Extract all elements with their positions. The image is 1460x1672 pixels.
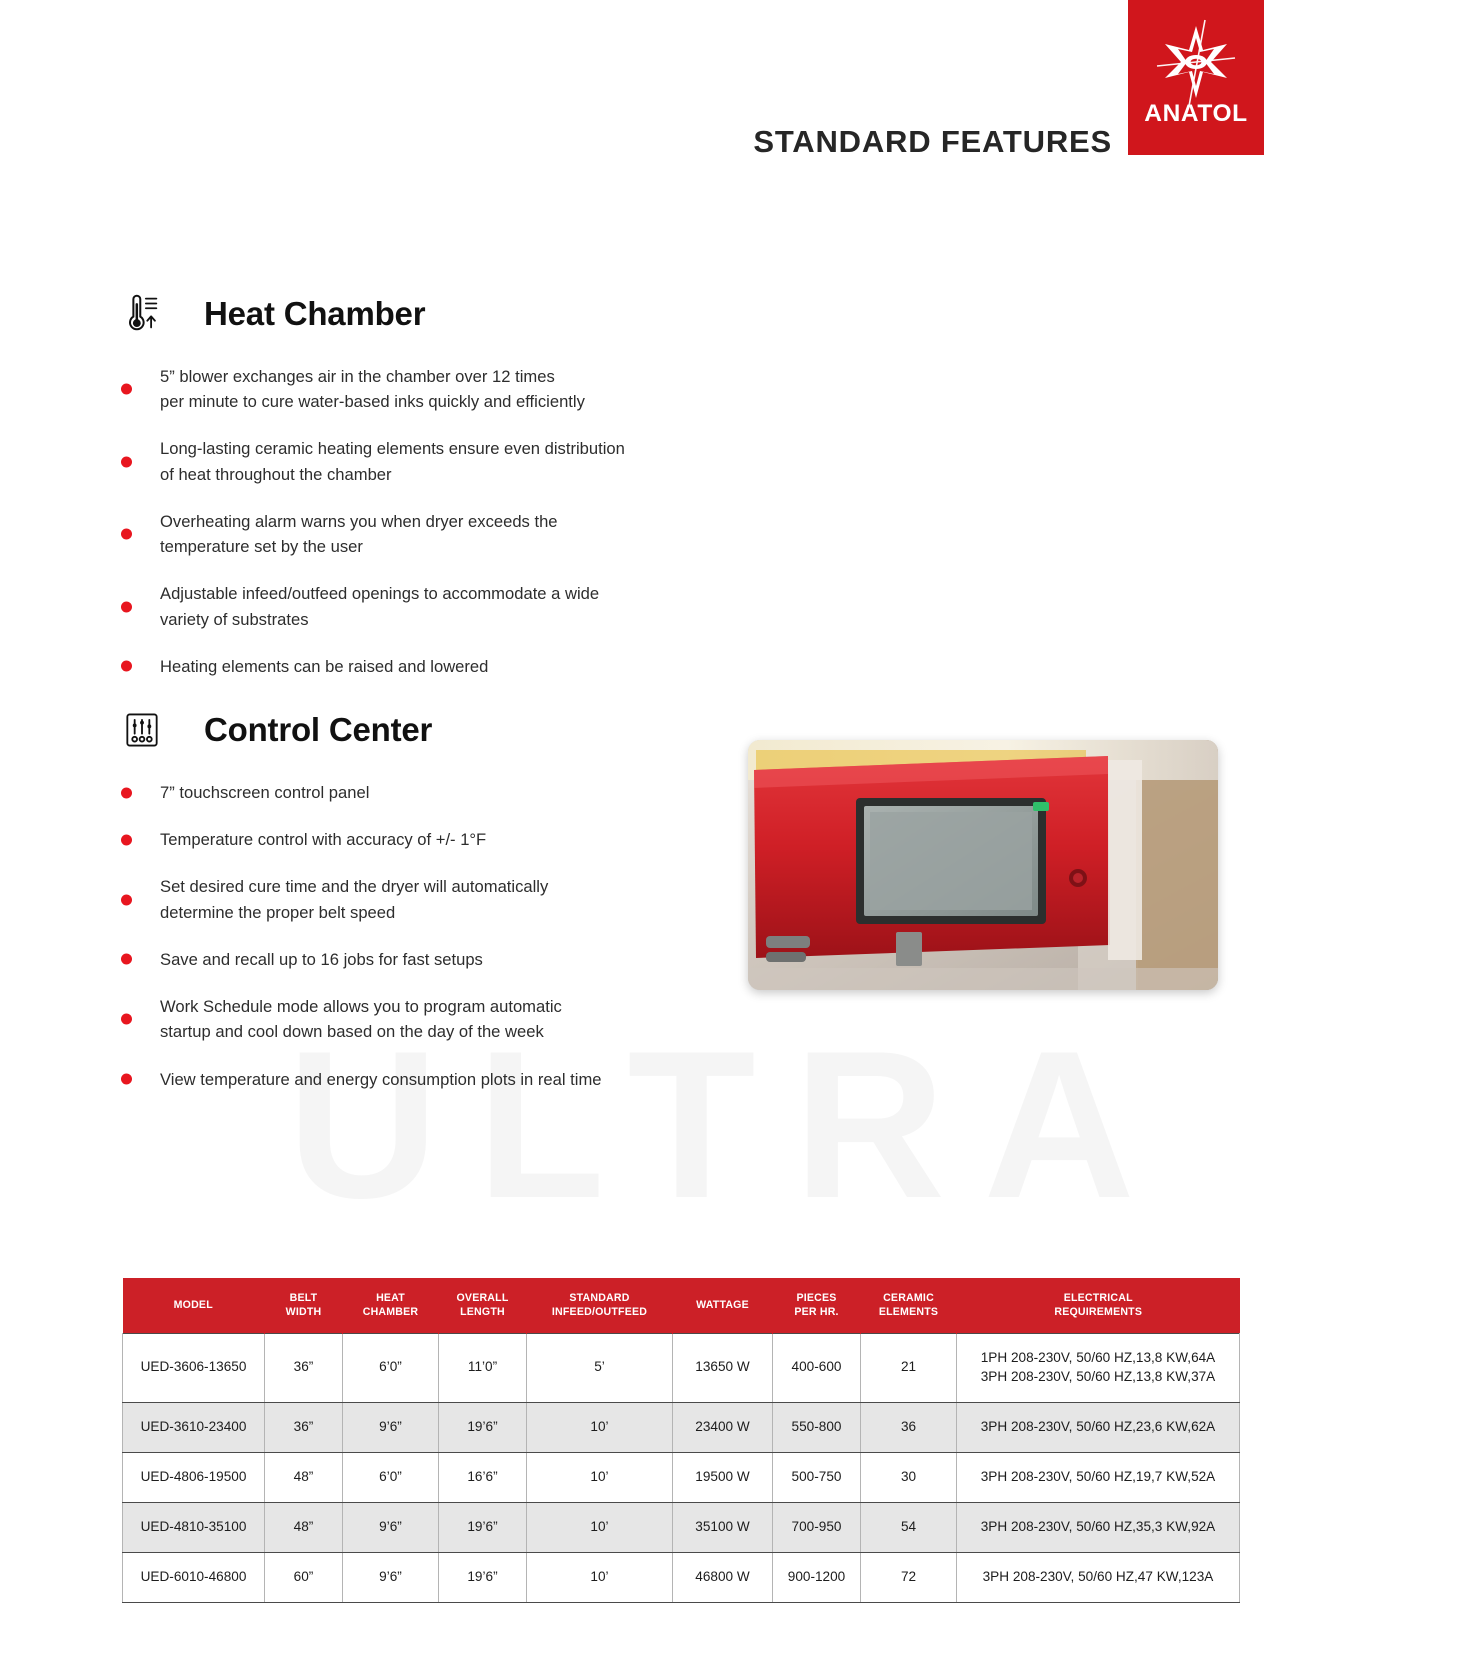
bullet-line-2: per minute to cure water-based inks quic… <box>160 389 758 414</box>
electrical-line-1: 3PH 208-230V, 50/60 HZ,23,6 KW,62A <box>961 1418 1235 1437</box>
cell-ceramic-elements: 72 <box>861 1552 957 1602</box>
cell-model: UED-4810-35100 <box>123 1502 265 1552</box>
anatol-logo-wordmark: ANATOL <box>1128 100 1264 128</box>
heat-chamber-feature-list: 5” blower exchanges air in the chamber o… <box>118 364 758 679</box>
bullet-line-1: Work Schedule mode allows you to program… <box>160 994 758 1019</box>
electrical-line-1: 3PH 208-230V, 50/60 HZ,19,7 KW,52A <box>961 1468 1235 1487</box>
cell-heat-chamber: 6’0” <box>343 1452 439 1502</box>
cell-model: UED-6010-46800 <box>123 1552 265 1602</box>
electrical-line-2: 3PH 208-230V, 50/60 HZ,13,8 KW,37A <box>961 1368 1235 1387</box>
page-root: ULTRA STANDARD FEATURES ANATOL <box>0 0 1460 1672</box>
column-header-ceramic-elements: CERAMIC ELEMENTS <box>861 1278 957 1334</box>
header-line-2: ELEMENTS <box>879 1306 938 1318</box>
bullet-line-1: Set desired cure time and the dryer will… <box>160 874 758 899</box>
bullet-line-2: startup and cool down based on the day o… <box>160 1019 758 1044</box>
cell-heat-chamber: 9’6” <box>343 1552 439 1602</box>
bullet-line-1: 5” blower exchanges air in the chamber o… <box>160 364 758 389</box>
anatol-star-logo-icon <box>1143 16 1249 112</box>
cell-ceramic-elements: 21 <box>861 1334 957 1403</box>
bullet-dot-icon <box>121 787 132 798</box>
column-header-overall-length: OVERALL LENGTH <box>439 1278 527 1334</box>
cell-belt-width: 48” <box>265 1452 343 1502</box>
cell-electrical-requirements: 3PH 208-230V, 50/60 HZ,19,7 KW,52A <box>957 1452 1240 1502</box>
list-item: 5” blower exchanges air in the chamber o… <box>118 364 758 414</box>
header-line-1: PIECES <box>796 1292 836 1304</box>
cell-wattage: 23400 W <box>673 1402 773 1452</box>
bullet-line-1: Temperature control with accuracy of +/-… <box>160 827 758 852</box>
section-control-center: Control Center 7” touchscreen control pa… <box>118 702 758 1114</box>
cell-ceramic-elements: 30 <box>861 1452 957 1502</box>
cell-wattage: 13650 W <box>673 1334 773 1403</box>
header-line-1: HEAT <box>376 1292 405 1304</box>
bullet-dot-icon <box>121 661 132 672</box>
cell-standard-infeed-outfeed: 10’ <box>527 1402 673 1452</box>
section-heat-chamber-title: Heat Chamber <box>204 295 425 333</box>
bullet-dot-icon <box>121 954 132 965</box>
electrical-line-1: 3PH 208-230V, 50/60 HZ,47 KW,123A <box>961 1568 1235 1587</box>
bullet-line-2: variety of substrates <box>160 607 758 632</box>
bullet-line-1: 7” touchscreen control panel <box>160 780 758 805</box>
list-item: Temperature control with accuracy of +/-… <box>118 827 758 852</box>
header-line-2: CHAMBER <box>363 1306 419 1318</box>
bullet-dot-icon <box>121 1014 132 1025</box>
thermometer-icon <box>118 290 166 338</box>
cell-belt-width: 36” <box>265 1402 343 1452</box>
list-item: Work Schedule mode allows you to program… <box>118 994 758 1044</box>
cell-heat-chamber: 6’0” <box>343 1334 439 1403</box>
control-panel-photo-graphic <box>748 740 1218 990</box>
bullet-dot-icon <box>121 894 132 905</box>
bullet-dot-icon <box>121 456 132 467</box>
section-control-center-title: Control Center <box>204 711 432 749</box>
list-item: Long-lasting ceramic heating elements en… <box>118 436 758 486</box>
bullet-line-1: Adjustable infeed/outfeed openings to ac… <box>160 581 758 606</box>
column-header-standard-infeed-outfeed: STANDARD INFEED/OUTFEED <box>527 1278 673 1334</box>
cell-model: UED-3610-23400 <box>123 1402 265 1452</box>
table-row: UED-3610-23400 36” 9’6” 19’6” 10’ 23400 … <box>123 1402 1240 1452</box>
cell-ceramic-elements: 36 <box>861 1402 957 1452</box>
header-line-1: STANDARD <box>569 1292 629 1304</box>
cell-belt-width: 48” <box>265 1502 343 1552</box>
header-line-2: LENGTH <box>460 1306 505 1318</box>
cell-belt-width: 60” <box>265 1552 343 1602</box>
anatol-logo: ANATOL <box>1128 0 1264 155</box>
list-item: 7” touchscreen control panel <box>118 780 758 805</box>
section-control-center-header: Control Center <box>118 702 758 758</box>
cell-pieces-per-hr: 500-750 <box>773 1452 861 1502</box>
table-row: UED-6010-46800 60” 9’6” 19’6” 10’ 46800 … <box>123 1552 1240 1602</box>
cell-overall-length: 19’6” <box>439 1402 527 1452</box>
bullet-line-1: Long-lasting ceramic heating elements en… <box>160 436 758 461</box>
header-line-2: INFEED/OUTFEED <box>552 1306 647 1318</box>
header-line-2: PER HR. <box>794 1306 838 1318</box>
control-center-feature-list: 7” touchscreen control panel Temperature… <box>118 780 758 1092</box>
electrical-line-1: 3PH 208-230V, 50/60 HZ,35,3 KW,92A <box>961 1518 1235 1537</box>
list-item: Save and recall up to 16 jobs for fast s… <box>118 947 758 972</box>
list-item: View temperature and energy consumption … <box>118 1067 758 1092</box>
bullet-line-1: Save and recall up to 16 jobs for fast s… <box>160 947 758 972</box>
table-row: UED-3606-13650 36” 6’0” 11’0” 5’ 13650 W… <box>123 1334 1240 1403</box>
bullet-line-1: Overheating alarm warns you when dryer e… <box>160 509 758 534</box>
cell-pieces-per-hr: 900-1200 <box>773 1552 861 1602</box>
list-item: Overheating alarm warns you when dryer e… <box>118 509 758 559</box>
bullet-dot-icon <box>121 834 132 845</box>
cell-heat-chamber: 9’6” <box>343 1402 439 1452</box>
header-line-1: WATTAGE <box>696 1299 749 1311</box>
specifications-table: MODEL BELT WIDTH HEAT CHAMBER OVERALL LE… <box>122 1278 1240 1603</box>
header-line-1: OVERALL <box>456 1292 508 1304</box>
bullet-dot-icon <box>121 529 132 540</box>
page-title: STANDARD FEATURES <box>753 124 1112 160</box>
cell-model: UED-4806-19500 <box>123 1452 265 1502</box>
cell-electrical-requirements: 1PH 208-230V, 50/60 HZ,13,8 KW,64A 3PH 2… <box>957 1334 1240 1403</box>
column-header-electrical-requirements: ELECTRICAL REQUIREMENTS <box>957 1278 1240 1334</box>
list-item: Set desired cure time and the dryer will… <box>118 874 758 924</box>
cell-overall-length: 19’6” <box>439 1502 527 1552</box>
cell-wattage: 46800 W <box>673 1552 773 1602</box>
bullet-dot-icon <box>121 384 132 395</box>
column-header-heat-chamber: HEAT CHAMBER <box>343 1278 439 1334</box>
header-line-2: REQUIREMENTS <box>1054 1306 1142 1318</box>
cell-standard-infeed-outfeed: 5’ <box>527 1334 673 1403</box>
cell-heat-chamber: 9’6” <box>343 1502 439 1552</box>
table-row: UED-4806-19500 48” 6’0” 16’6” 10’ 19500 … <box>123 1452 1240 1502</box>
header-line-1: CERAMIC <box>883 1292 934 1304</box>
cell-ceramic-elements: 54 <box>861 1502 957 1552</box>
cell-belt-width: 36” <box>265 1334 343 1403</box>
header-line-2: WIDTH <box>286 1306 322 1318</box>
bullet-line-2: temperature set by the user <box>160 534 758 559</box>
cell-wattage: 35100 W <box>673 1502 773 1552</box>
bullet-line-1: View temperature and energy consumption … <box>160 1067 758 1092</box>
cell-overall-length: 16’6” <box>439 1452 527 1502</box>
cell-overall-length: 11’0” <box>439 1334 527 1403</box>
header-line-1: BELT <box>290 1292 318 1304</box>
electrical-line-1: 1PH 208-230V, 50/60 HZ,13,8 KW,64A <box>961 1349 1235 1368</box>
column-header-wattage: WATTAGE <box>673 1278 773 1334</box>
column-header-model: MODEL <box>123 1278 265 1334</box>
section-heat-chamber: Heat Chamber 5” blower exchanges air in … <box>118 286 758 701</box>
cell-electrical-requirements: 3PH 208-230V, 50/60 HZ,23,6 KW,62A <box>957 1402 1240 1452</box>
cell-electrical-requirements: 3PH 208-230V, 50/60 HZ,35,3 KW,92A <box>957 1502 1240 1552</box>
section-heat-chamber-header: Heat Chamber <box>118 286 758 342</box>
list-item: Heating elements can be raised and lower… <box>118 654 758 679</box>
bullet-dot-icon <box>121 1074 132 1085</box>
list-item: Adjustable infeed/outfeed openings to ac… <box>118 581 758 631</box>
bullet-line-2: determine the proper belt speed <box>160 900 758 925</box>
bullet-dot-icon <box>121 601 132 612</box>
column-header-pieces-per-hr: PIECES PER HR. <box>773 1278 861 1334</box>
header-line-1: MODEL <box>174 1299 213 1311</box>
cell-pieces-per-hr: 700-950 <box>773 1502 861 1552</box>
table-row: UED-4810-35100 48” 9’6” 19’6” 10’ 35100 … <box>123 1502 1240 1552</box>
table-header-row: MODEL BELT WIDTH HEAT CHAMBER OVERALL LE… <box>123 1278 1240 1334</box>
cell-pieces-per-hr: 400-600 <box>773 1334 861 1403</box>
cell-standard-infeed-outfeed: 10’ <box>527 1452 673 1502</box>
bullet-line-1: Heating elements can be raised and lower… <box>160 654 758 679</box>
cell-standard-infeed-outfeed: 10’ <box>527 1502 673 1552</box>
bullet-line-2: of heat throughout the chamber <box>160 462 758 487</box>
cell-overall-length: 19’6” <box>439 1552 527 1602</box>
control-sliders-icon <box>118 706 166 754</box>
header-line-1: ELECTRICAL <box>1064 1292 1133 1304</box>
control-panel-photo <box>748 740 1218 990</box>
cell-pieces-per-hr: 550-800 <box>773 1402 861 1452</box>
column-header-belt-width: BELT WIDTH <box>265 1278 343 1334</box>
cell-wattage: 19500 W <box>673 1452 773 1502</box>
cell-electrical-requirements: 3PH 208-230V, 50/60 HZ,47 KW,123A <box>957 1552 1240 1602</box>
cell-model: UED-3606-13650 <box>123 1334 265 1403</box>
cell-standard-infeed-outfeed: 10’ <box>527 1552 673 1602</box>
